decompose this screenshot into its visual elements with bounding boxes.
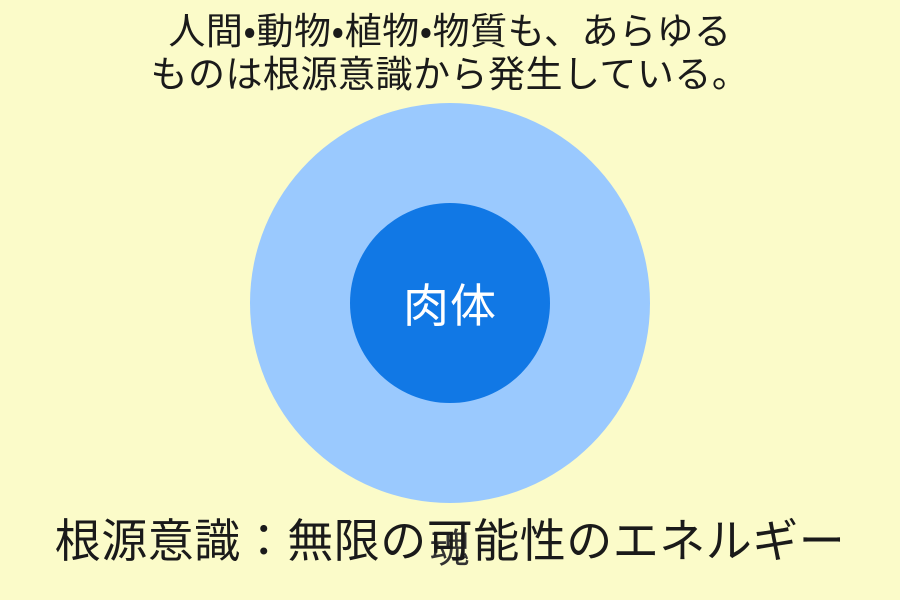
inner-circle-body <box>350 203 550 403</box>
concentric-circle-diagram: 肉体 魂 <box>250 103 650 503</box>
heading-line-1: 人間・動物・植物・物質も、あらゆる <box>0 10 900 53</box>
heading-text: 人間・動物・植物・物質も、あらゆる ものは根源意識から発生している。 <box>0 10 900 96</box>
diagram-canvas: 人間・動物・植物・物質も、あらゆる ものは根源意識から発生している。 肉体 魂 … <box>0 0 900 600</box>
heading-line-2: ものは根源意識から発生している。 <box>0 53 900 96</box>
caption-text: 根源意識：無限の可能性のエネルギー <box>0 512 900 570</box>
